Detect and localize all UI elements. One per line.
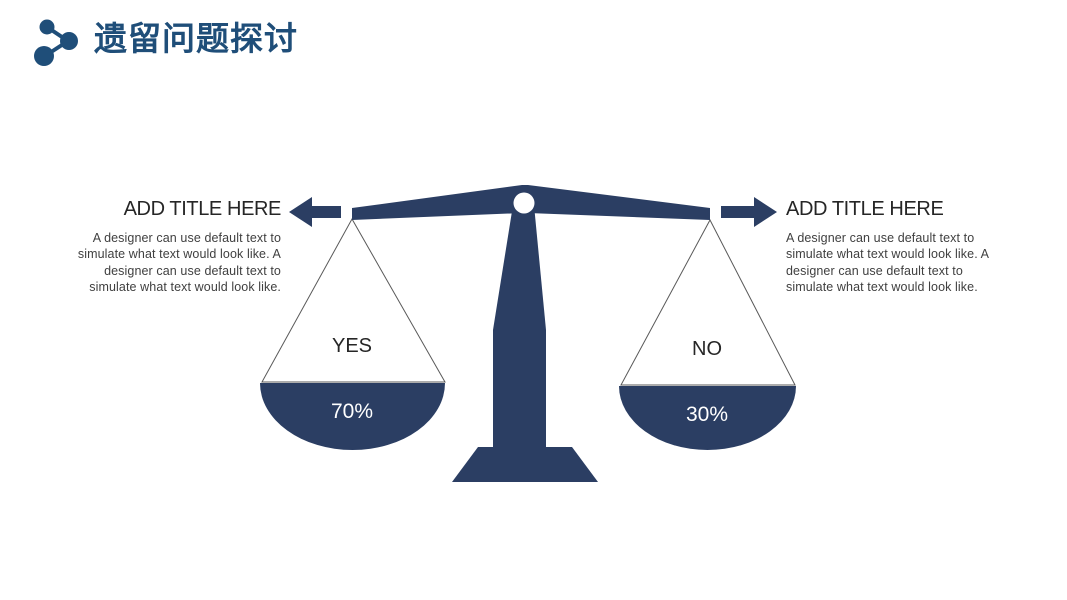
right-pan-strings-triangle xyxy=(621,220,795,385)
left-pan-strings-triangle xyxy=(262,219,445,382)
scale-fulcrum-hole xyxy=(514,193,535,214)
network-nodes-icon xyxy=(28,16,84,68)
right-pan-bowl xyxy=(619,386,796,450)
left-pan-percent: 70% xyxy=(331,400,373,423)
right-arrow-icon-group xyxy=(721,197,777,227)
left-pan-bowl xyxy=(260,383,445,450)
right-text-block: ADD TITLE HERE A designer can use defaul… xyxy=(786,196,1001,296)
left-pan-label: YES xyxy=(332,335,372,357)
left-text-block: ADD TITLE HERE A designer can use defaul… xyxy=(66,196,281,296)
left-pan-group: YES 70% xyxy=(260,219,445,450)
arrow-right-icon xyxy=(721,197,777,227)
scale-base xyxy=(452,447,598,482)
right-pan-percent: 30% xyxy=(686,403,728,426)
right-pan-group: NO 30% xyxy=(619,220,796,450)
left-heading: ADD TITLE HERE xyxy=(66,196,281,222)
right-body-text: A designer can use default text to simul… xyxy=(786,230,1001,296)
right-heading: ADD TITLE HERE xyxy=(786,196,1001,222)
page-title: 遗留问题探讨 xyxy=(94,17,298,61)
scale-pillar xyxy=(493,205,546,448)
left-arrow-icon-group xyxy=(289,197,341,227)
balance-scale-figure: YES 70% NO 30% xyxy=(0,0,1067,600)
right-pan-label: NO xyxy=(692,338,722,360)
scale-stand-group xyxy=(452,205,598,482)
slide-header: 遗留问题探讨 xyxy=(0,0,1067,85)
scale-beam-group xyxy=(352,185,710,220)
arrow-left-icon xyxy=(289,197,341,227)
left-body-text: A designer can use default text to simul… xyxy=(66,230,281,296)
scale-beam xyxy=(352,185,710,220)
